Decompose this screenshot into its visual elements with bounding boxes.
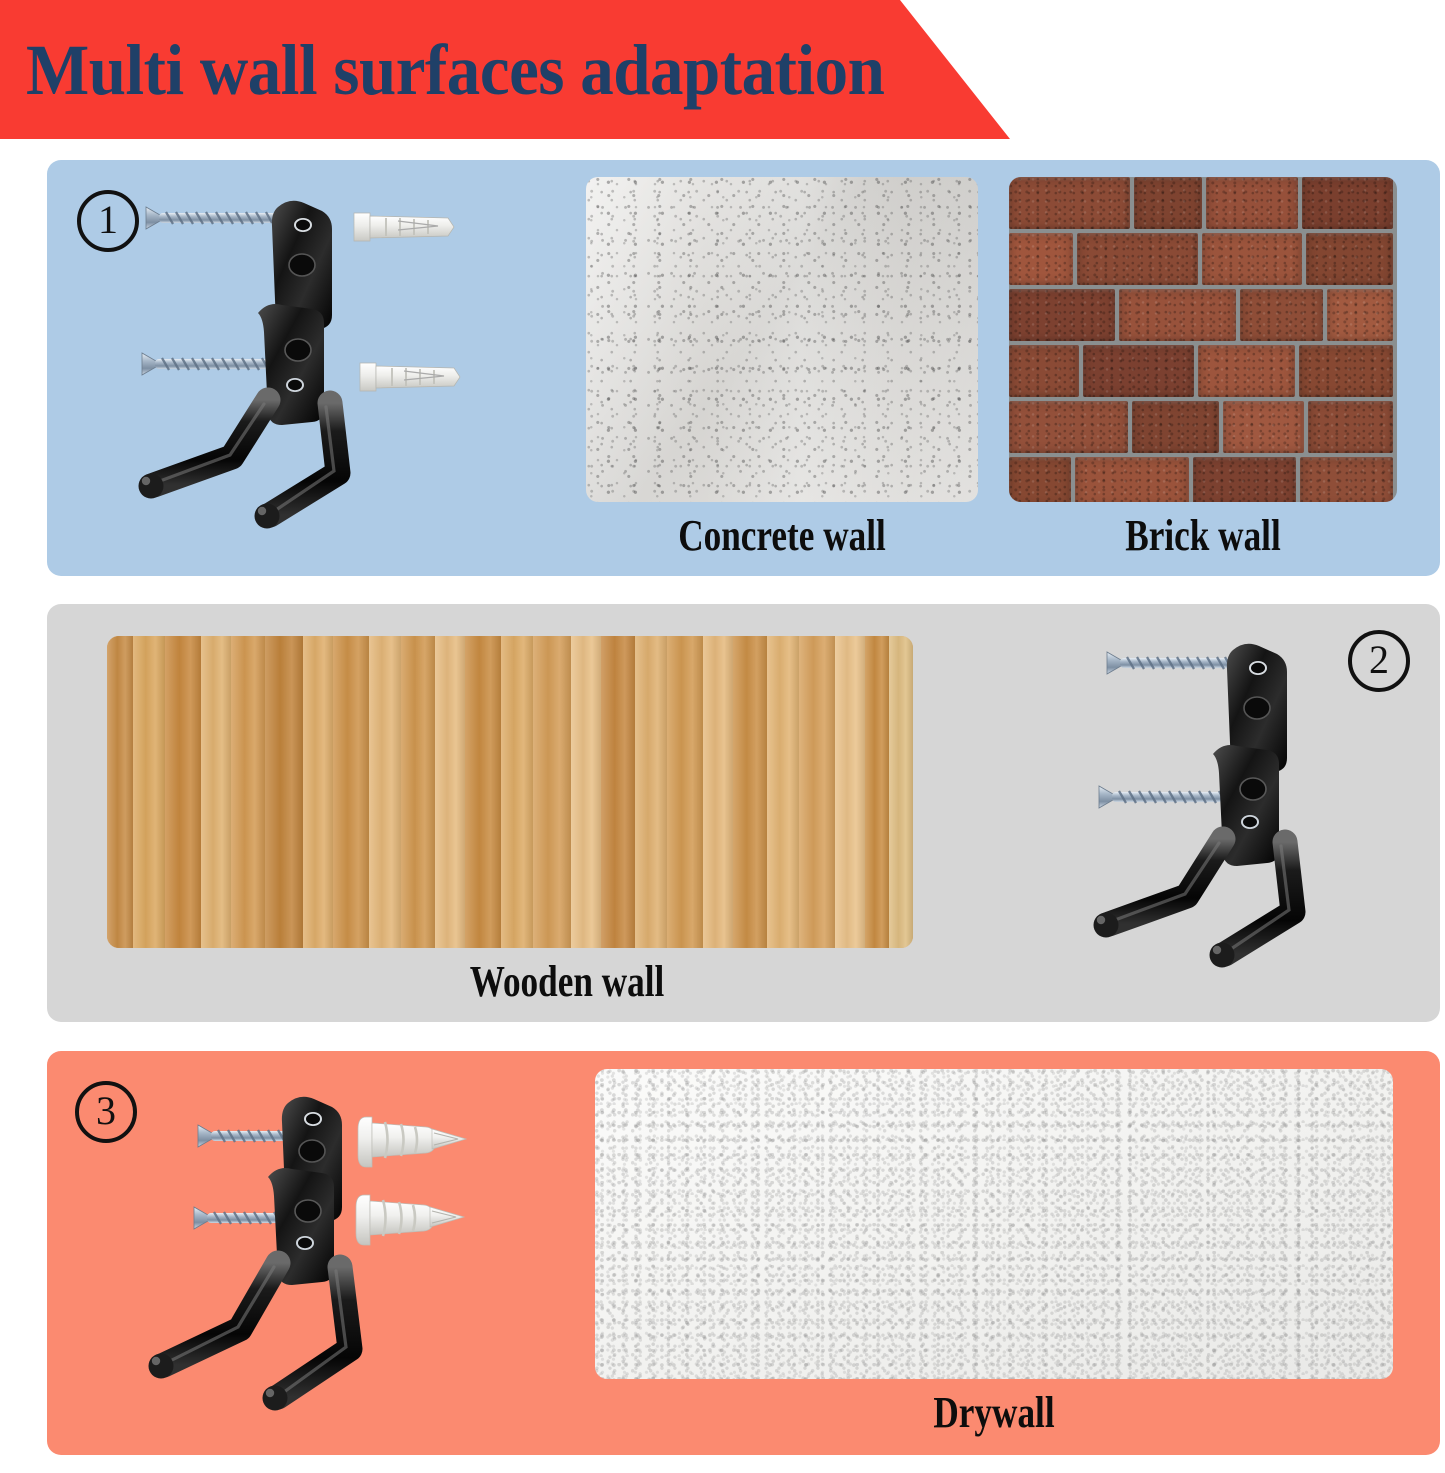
drywall-label: Drywall (842, 1387, 1146, 1438)
concrete-wall-image (586, 177, 978, 502)
wooden-wall-label: Wooden wall (415, 956, 719, 1007)
hook-tip-upper (1094, 913, 1119, 938)
concrete-wall-label: Concrete wall (630, 510, 934, 561)
drywall-anchor-upper (358, 1117, 466, 1167)
hook-assembly-2 (1047, 626, 1397, 996)
header-banner: Multi wall surfaces adaptation (0, 0, 1012, 139)
brick-wall-label: Brick wall (1051, 510, 1355, 561)
panel-drywall: 3 (47, 1051, 1440, 1455)
screw-lower (1099, 786, 1226, 808)
hook-tip-lower (255, 504, 280, 529)
hook-tip-upper (139, 474, 164, 499)
wall-plug-lower (360, 363, 460, 391)
hook-tip-lower (1210, 943, 1235, 968)
brick-wall-image (1009, 177, 1397, 502)
screw-upper (1107, 652, 1232, 674)
screw-lower (142, 353, 271, 375)
hook-arms (164, 1263, 350, 1397)
drywall-anchor-lower (356, 1195, 464, 1245)
drywall-image (595, 1069, 1393, 1379)
wall-plug-upper (354, 213, 454, 241)
hook-tip-lower (263, 1386, 288, 1411)
panel-wooden: 2 Wooden wall (47, 604, 1440, 1022)
hook-assembly-3 (102, 1073, 522, 1443)
hook-assembly-1 (102, 185, 522, 555)
wooden-wall-image (107, 636, 913, 948)
screw-upper (146, 207, 277, 229)
panel-concrete-brick: 1 (47, 160, 1440, 576)
hook-tip-upper (149, 1354, 174, 1379)
page-title: Multi wall surfaces adaptation (26, 24, 844, 116)
